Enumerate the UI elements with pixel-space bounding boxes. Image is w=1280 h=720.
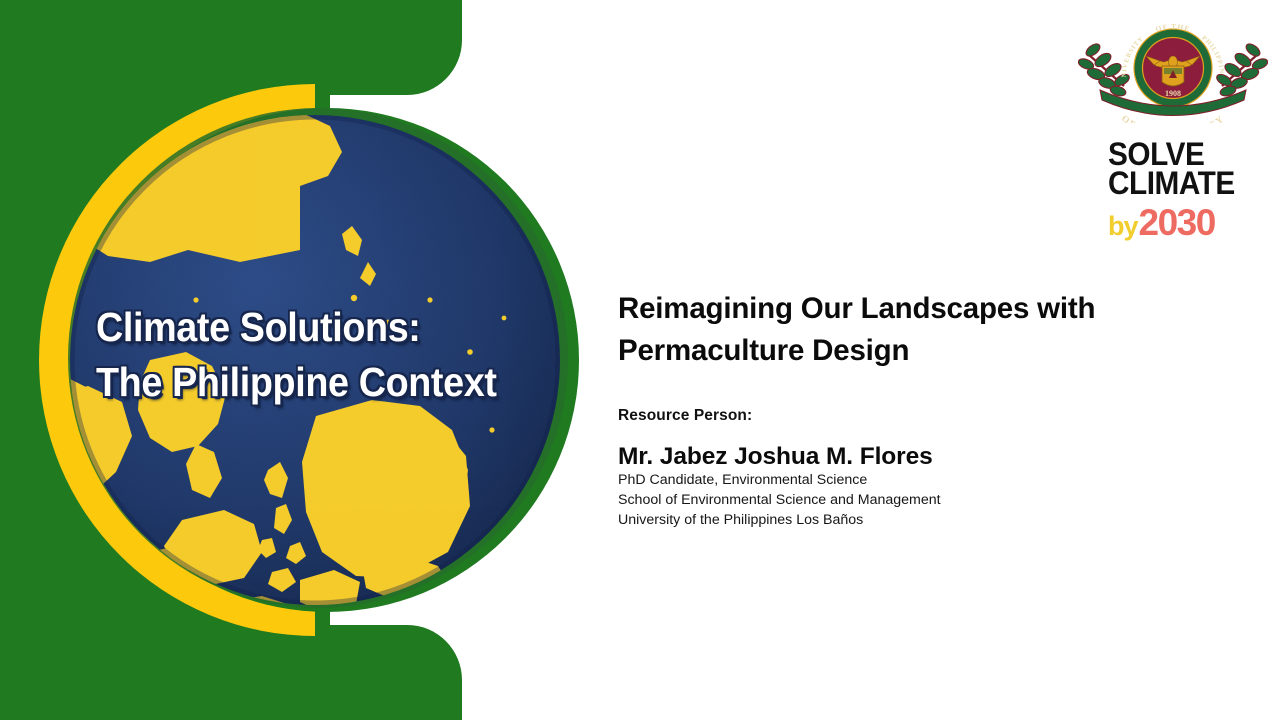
solve-climate-by-year-row: by2030 [1108, 202, 1258, 244]
up-open-university-seal-logo: OF THE UNIVERSITY PHILIPPINES [1078, 18, 1268, 123]
affiliation-line-2: School of Environmental Science and Mana… [618, 490, 941, 510]
seal-shield [1162, 66, 1184, 86]
talk-title: Reimagining Our Landscapes with Permacul… [618, 288, 1218, 372]
solve-climate-by-2030-logo: SOLVE CLIMATE by2030 [1108, 140, 1258, 252]
speaker-affiliation: PhD Candidate, Environmental Science Sch… [618, 470, 941, 530]
seal-year: 1908 [1165, 89, 1181, 98]
left-decorative-panel [0, 0, 600, 720]
solve-climate-word-by: by [1108, 211, 1138, 241]
resource-person-label: Resource Person: [618, 407, 752, 425]
solve-climate-word-2030: 2030 [1139, 202, 1215, 243]
globe-artwork [0, 0, 600, 720]
solve-climate-word-climate: CLIMATE [1108, 169, 1248, 198]
affiliation-line-3: University of the Philippines Los Baños [618, 510, 941, 530]
speaker-name: Mr. Jabez Joshua M. Flores [618, 443, 933, 471]
affiliation-line-1: PhD Candidate, Environmental Science [618, 470, 941, 490]
upou-seal-icon: OF THE UNIVERSITY PHILIPPINES [1078, 18, 1268, 123]
presentation-slide: Climate Solutions: The Philippine Contex… [0, 0, 1280, 720]
